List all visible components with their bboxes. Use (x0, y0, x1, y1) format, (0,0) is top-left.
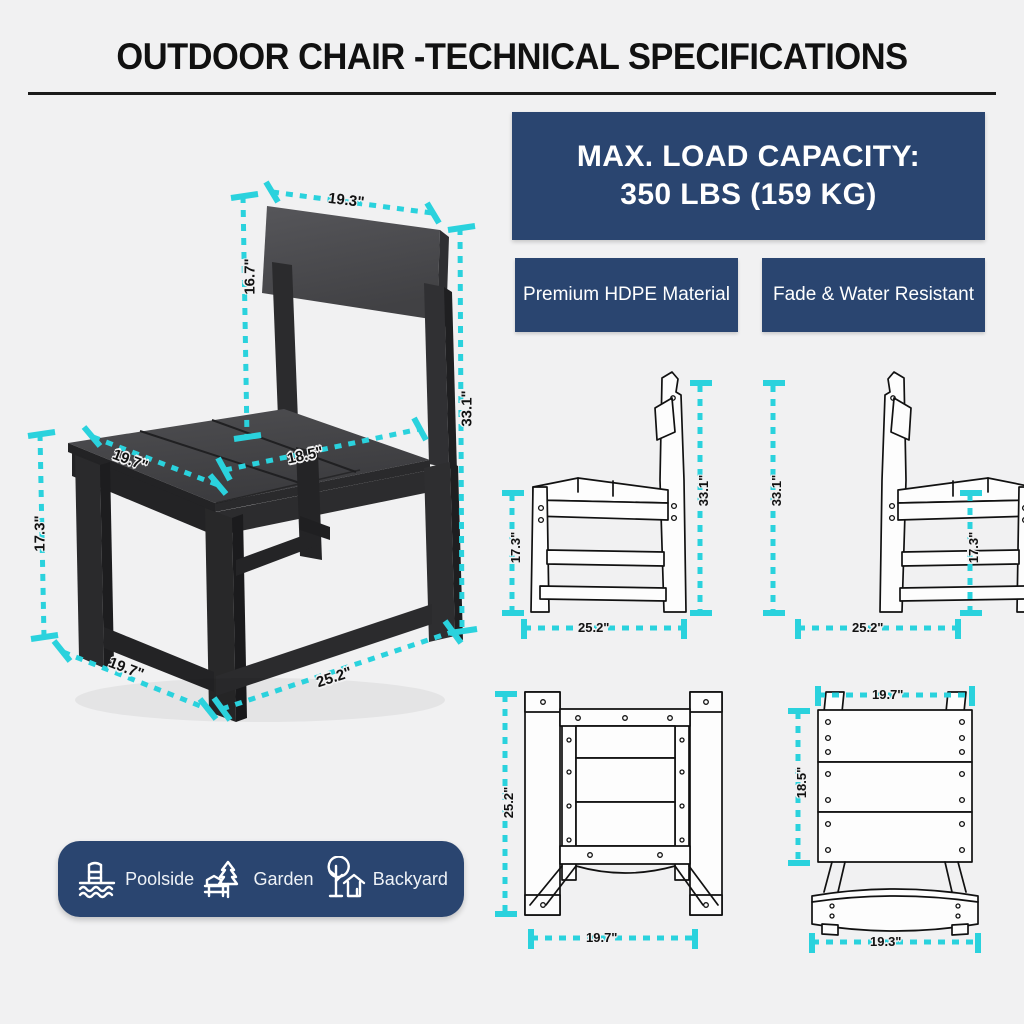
max-load-capacity-banner: MAX. LOAD CAPACITY: 350 LBS (159 KG) (512, 112, 985, 240)
dim-hero-overall-depth (214, 621, 461, 720)
dim-hero-seat-depth (218, 418, 426, 480)
dim-label-side-right-height: 33.1" (769, 475, 784, 506)
dim-label-top-depth: 25.2" (501, 787, 516, 818)
backyard-tree-house-icon (322, 856, 368, 902)
pool-icon (74, 856, 120, 902)
dim-label-hero-overall-depth: 25.2" (314, 664, 354, 691)
title-divider (28, 92, 996, 95)
use-case-poolside[interactable]: Poolside (74, 856, 194, 902)
side-right-chair-outline (880, 372, 1024, 612)
dim-label-side-right-depth: 25.2" (852, 620, 883, 635)
chair-stretchers (104, 516, 432, 696)
dim-label-hero-seat-height: 17.3" (32, 515, 49, 551)
dim-side-left-height (690, 383, 712, 613)
dim-label-front-backrest-height: 18.5" (794, 767, 809, 798)
dim-label-hero-backrest-height: 16.7" (242, 258, 259, 294)
dim-front-backrest-width (812, 933, 978, 953)
dim-label-hero-backrest-width: 19.3" (327, 190, 365, 211)
dim-label-hero-base-depth: 19.7" (106, 654, 146, 683)
chair-backrest (262, 206, 449, 327)
dim-side-left-seat-height (502, 493, 524, 613)
dim-hero-overall-height (448, 226, 477, 633)
dim-front-backrest-height (788, 711, 810, 863)
chair-aprons (72, 452, 430, 536)
use-case-garden-label: Garden (253, 869, 313, 890)
dim-label-top-width: 19.7" (586, 930, 617, 945)
dim-side-right-seat-height (960, 493, 982, 613)
dim-top-depth (495, 694, 517, 914)
load-capacity-line-2: 350 LBS (159 KG) (620, 176, 877, 214)
feature-card-resistance: Fade & Water Resistant (762, 258, 985, 332)
dim-label-front-seat-width: 19.7" (872, 687, 903, 702)
feature-card-resistance-label: Fade & Water Resistant (773, 283, 974, 308)
dim-top-width (531, 929, 695, 949)
dim-label-side-left-height: 33.1" (696, 475, 711, 506)
dim-side-right-height (763, 383, 785, 613)
dim-hero-backrest-height (231, 194, 261, 439)
use-case-pill: Poolside Garden (58, 841, 464, 917)
chair-back-posts (272, 262, 457, 472)
front-chair-outline (812, 692, 978, 935)
side-left-chair-outline (531, 372, 686, 612)
use-case-poolside-label: Poolside (125, 869, 194, 890)
chair-legs (75, 447, 463, 722)
load-capacity-line-1: MAX. LOAD CAPACITY: (577, 138, 920, 176)
feature-card-row: Premium HDPE Material Fade & Water Resis… (515, 258, 985, 332)
garden-tree-bench-icon (202, 856, 248, 902)
dim-hero-seat-width (84, 427, 226, 494)
use-case-garden[interactable]: Garden (202, 856, 313, 902)
dim-label-hero-overall-height: 33.1" (459, 390, 476, 426)
dim-label-hero-seat-width: 19.7" (110, 446, 150, 475)
dim-label-side-left-seat-height: 17.3" (508, 532, 523, 563)
infographic-page: OUTDOOR CHAIR -TECHNICAL SPECIFICATIONS … (0, 0, 1024, 1024)
dim-side-right-depth (798, 619, 958, 639)
dim-side-left-depth (524, 619, 684, 639)
dim-label-side-left-depth: 25.2" (578, 620, 609, 635)
dim-label-side-right-seat-height: 17.3" (966, 532, 981, 563)
page-title: OUTDOOR CHAIR -TECHNICAL SPECIFICATIONS (36, 36, 988, 78)
use-case-backyard[interactable]: Backyard (322, 856, 448, 902)
top-plan-chair-outline (525, 692, 722, 915)
feature-card-material: Premium HDPE Material (515, 258, 738, 332)
dim-label-front-backrest-width: 19.3" (870, 934, 901, 949)
dim-hero-base-depth (54, 641, 216, 719)
dim-hero-seat-height (28, 432, 58, 639)
feature-card-material-label: Premium HDPE Material (523, 283, 730, 308)
dim-label-hero-seat-depth: 18.5" (286, 443, 325, 467)
dim-front-seat-width (818, 686, 972, 706)
use-case-backyard-label: Backyard (373, 869, 448, 890)
dim-hero-backrest-width (266, 182, 439, 223)
chair-seat (68, 409, 430, 512)
